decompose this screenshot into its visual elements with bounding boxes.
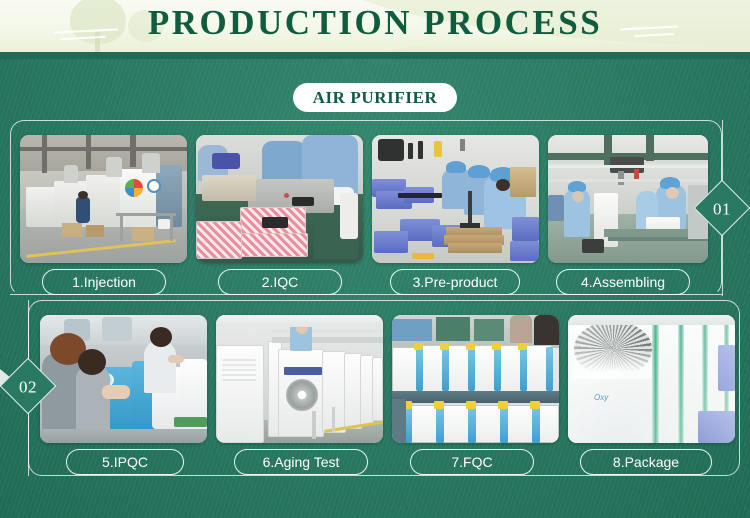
caption-step-3: 3.Pre-product <box>390 269 520 295</box>
photo-card-ipqc <box>40 315 207 443</box>
photo-injection <box>20 135 187 263</box>
caption-step-8: 8.Package <box>580 449 712 475</box>
photo-pre-product <box>372 135 539 263</box>
caption-step-2: 2.IQC <box>218 269 342 295</box>
page-title: PRODUCTION PROCESS <box>0 3 750 43</box>
caption-step-7: 7.FQC <box>410 449 534 475</box>
photo-card-package: Oxy <box>568 315 735 443</box>
photo-assembling <box>548 135 708 263</box>
photo-iqc <box>196 135 363 263</box>
photo-fqc <box>392 315 559 443</box>
caption-step-5: 5.IPQC <box>66 449 184 475</box>
caption-step-4: 4.Assembling <box>556 269 690 295</box>
photo-package: Oxy <box>568 315 735 443</box>
photo-ipqc <box>40 315 207 443</box>
photo-card-aging-test <box>216 315 383 443</box>
product-badge: AIR PURIFIER <box>293 83 457 112</box>
photo-aging-test <box>216 315 383 443</box>
photo-card-assembling <box>548 135 708 263</box>
photo-card-iqc <box>196 135 363 263</box>
production-process-infographic: PRODUCTION PROCESS AIR PURIFIER 01 02 <box>0 0 750 518</box>
caption-step-6: 6.Aging Test <box>234 449 368 475</box>
row2-number-label: 02 <box>8 367 48 407</box>
header-divider <box>0 52 750 59</box>
caption-step-1: 1.Injection <box>42 269 166 295</box>
page-header: PRODUCTION PROCESS <box>0 0 750 55</box>
row1-number-label: 01 <box>702 189 742 229</box>
photo-card-fqc <box>392 315 559 443</box>
photo-card-pre-product <box>372 135 539 263</box>
photo-card-injection <box>20 135 187 263</box>
